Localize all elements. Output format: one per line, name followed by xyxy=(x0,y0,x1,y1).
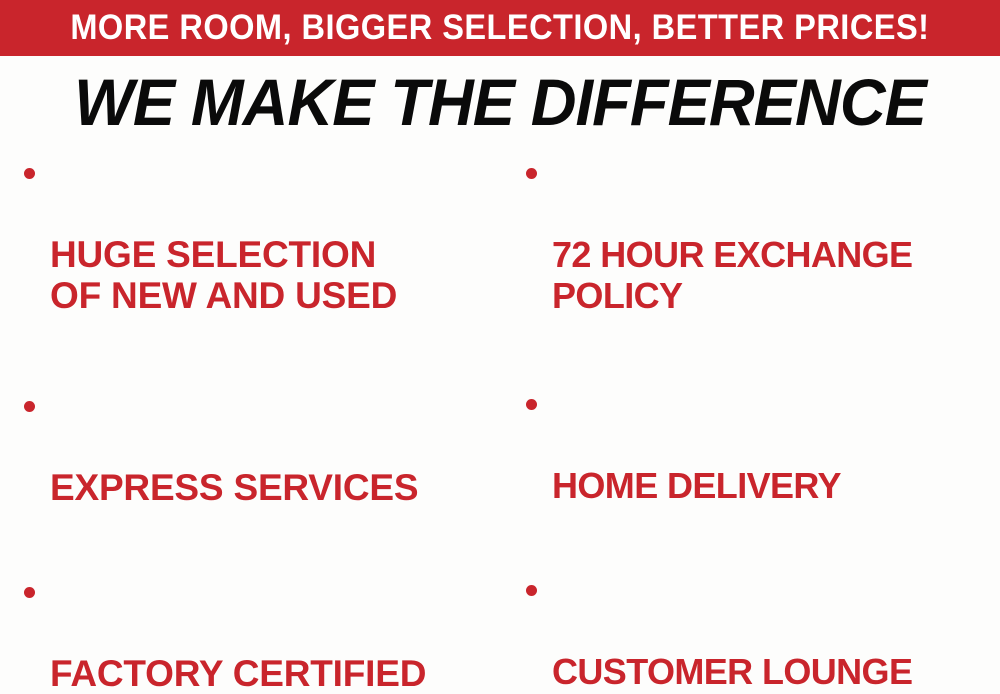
promo-poster: MORE ROOM, BIGGER SELECTION, BETTER PRIC… xyxy=(0,0,1000,694)
page-title: WE MAKE THE DIFFERENCE xyxy=(20,66,980,138)
bullet-dot-icon xyxy=(24,587,35,598)
list-item-label: HUGE SELECTION OF NEW AND USED xyxy=(50,234,500,316)
list-item: HUGE SELECTION OF NEW AND USED xyxy=(14,152,500,357)
benefits-column-left: HUGE SELECTION OF NEW AND USED EXPRESS S… xyxy=(14,152,500,694)
benefits-column-right: 72 HOUR EXCHANGE POLICY HOME DELIVERY CU… xyxy=(516,152,1000,694)
bullet-dot-icon xyxy=(526,399,537,410)
bullet-dot-icon xyxy=(526,168,537,179)
banner-headline-text: MORE ROOM, BIGGER SELECTION, BETTER PRIC… xyxy=(70,10,929,46)
list-item-label: HOME DELIVERY xyxy=(552,465,1000,506)
list-item: 72 HOUR EXCHANGE POLICY xyxy=(516,152,1000,357)
list-item-label: 72 HOUR EXCHANGE POLICY xyxy=(552,234,1000,316)
top-banner: MORE ROOM, BIGGER SELECTION, BETTER PRIC… xyxy=(0,0,1000,56)
list-item-label: CUSTOMER LOUNGE WIFI xyxy=(552,651,1000,694)
list-item-label: FACTORY CERTIFIED TECHNICIANS xyxy=(50,653,500,694)
list-item-label: EXPRESS SERVICES xyxy=(50,467,500,508)
benefits-columns: HUGE SELECTION OF NEW AND USED EXPRESS S… xyxy=(0,152,1000,694)
list-item: CUSTOMER LOUNGE WIFI xyxy=(516,569,1000,694)
list-item: FACTORY CERTIFIED TECHNICIANS xyxy=(14,571,500,694)
list-item: EXPRESS SERVICES xyxy=(14,385,500,549)
bullet-dot-icon xyxy=(526,585,537,596)
list-item: HOME DELIVERY xyxy=(516,383,1000,547)
bullet-dot-icon xyxy=(24,401,35,412)
bullet-dot-icon xyxy=(24,168,35,179)
